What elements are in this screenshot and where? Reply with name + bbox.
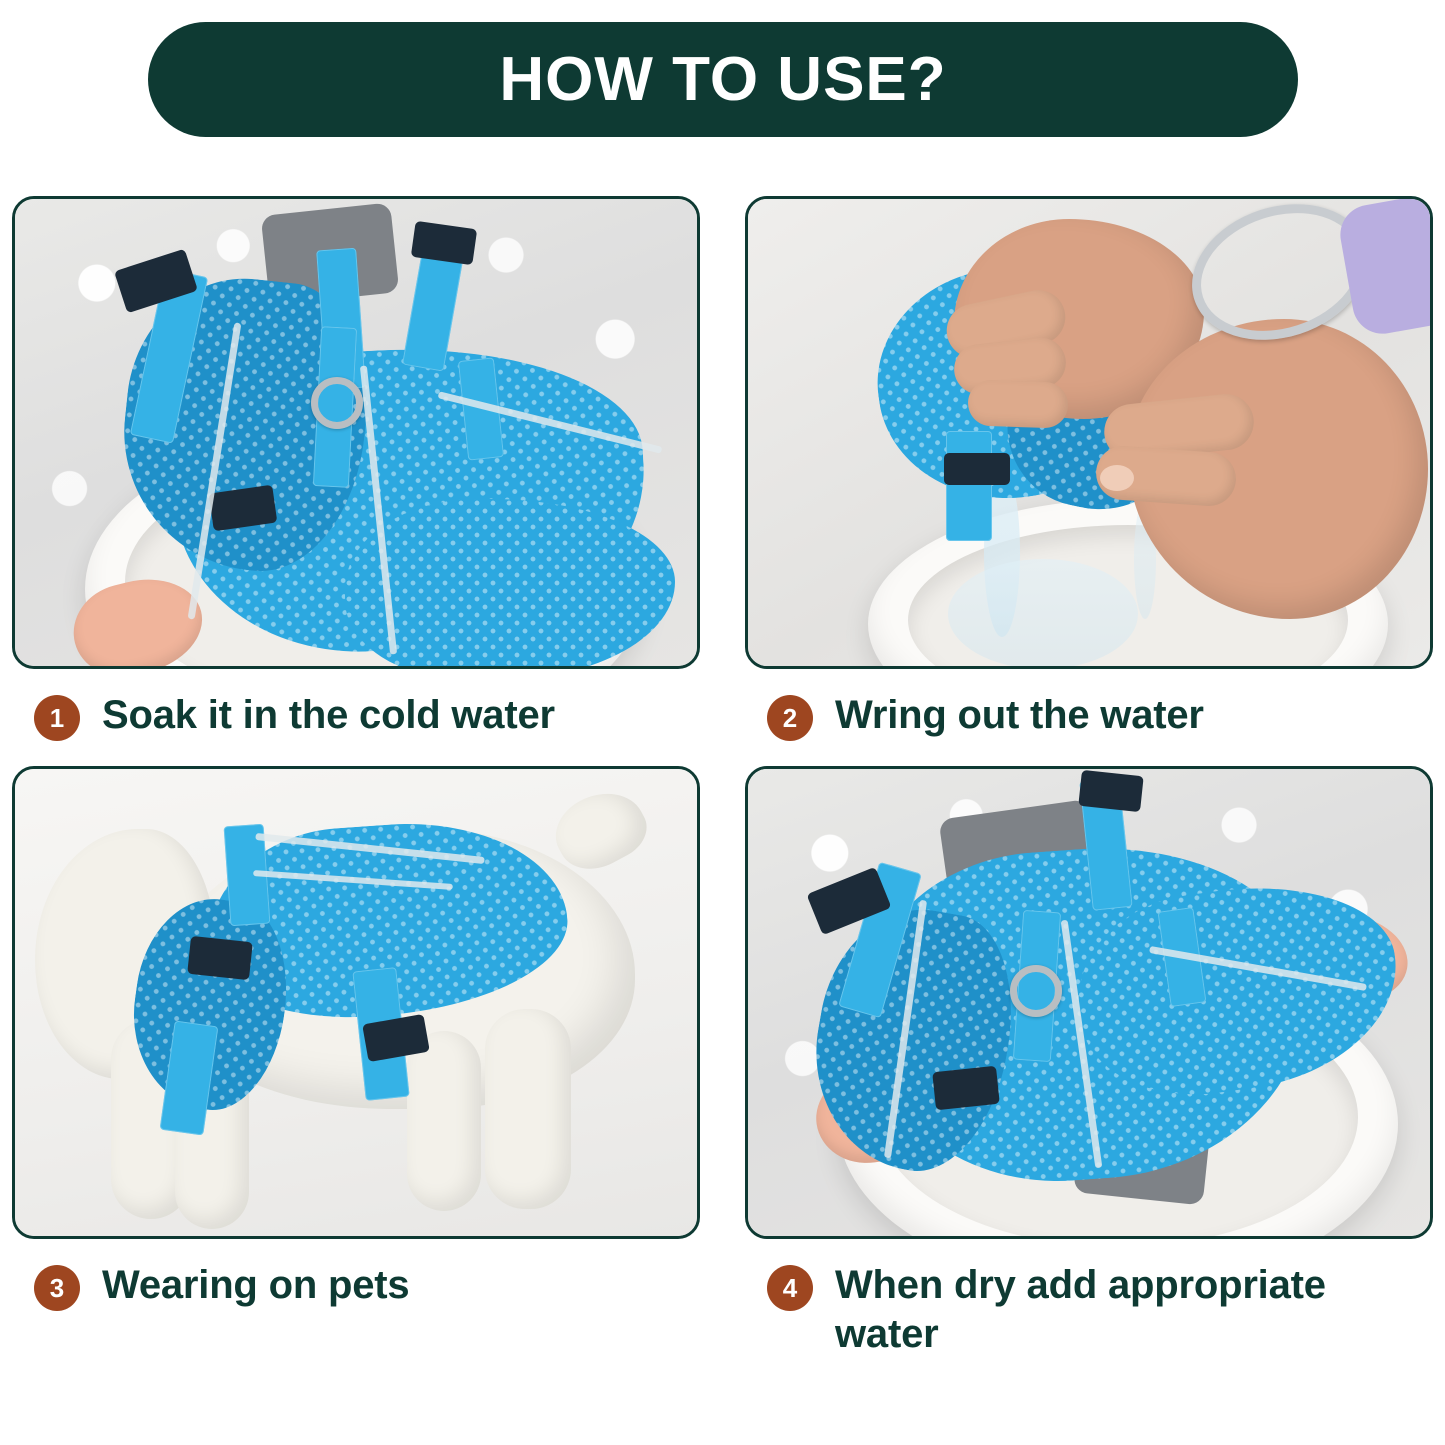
dog-mannequin-hind-leg [485,1009,571,1209]
infographic-page: HOW TO USE? [0,0,1445,1445]
step-image-2 [745,196,1433,669]
step-caption-text-2: Wring out the water [835,691,1204,740]
step-image-4 [745,766,1433,1239]
step-caption-3: 3 Wearing on pets [12,1261,700,1311]
dog-mannequin-hind-leg-2 [407,1031,481,1211]
finger [967,379,1069,428]
step-caption-text-3: Wearing on pets [102,1261,409,1310]
harness-buckle-bottom [932,1066,1000,1110]
step-caption-1: 1 Soak it in the cold water [12,691,700,741]
step-caption-text-4: When dry add appropriate water [835,1261,1433,1359]
step-number-badge-1: 1 [34,695,80,741]
step-number-badge-4: 4 [767,1265,813,1311]
fingernail [1100,465,1134,491]
harness-d-ring [311,377,363,429]
harness-buckle-top [1078,770,1143,812]
harness-strap-hanging [946,431,992,541]
step-card-2: 2 Wring out the water [745,196,1433,741]
steps-grid: 1 Soak it in the cold water [12,196,1433,1359]
harness-d-ring [1010,965,1062,1017]
step-caption-2: 2 Wring out the water [745,691,1433,741]
step-image-1 [12,196,700,669]
step-card-4: 4 When dry add appropriate water [745,766,1433,1359]
step-card-1: 1 Soak it in the cold water [12,196,700,741]
header-banner: HOW TO USE? [148,22,1298,137]
step-card-3: 3 Wearing on pets [12,766,700,1359]
step-number-badge-3: 3 [34,1265,80,1311]
water-splash [948,559,1138,669]
harness-buckle-chest [187,936,253,980]
step-caption-text-1: Soak it in the cold water [102,691,555,740]
step-caption-4: 4 When dry add appropriate water [745,1261,1433,1359]
page-title: HOW TO USE? [499,49,946,111]
step-number-badge-2: 2 [767,695,813,741]
step-image-3 [12,766,700,1239]
harness-buckle-hanging [944,453,1010,485]
